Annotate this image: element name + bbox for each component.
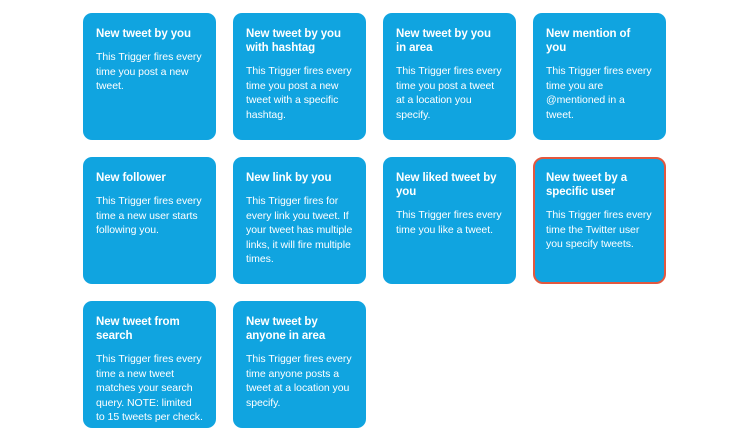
trigger-card-title: New tweet by a specific user	[546, 171, 653, 199]
trigger-card-new-liked-tweet-by-you[interactable]: New liked tweet by you This Trigger fire…	[383, 157, 516, 284]
trigger-card-description: This Trigger fires every time you post a…	[246, 64, 353, 122]
trigger-card-new-tweet-by-you-in-area[interactable]: New tweet by you in area This Trigger fi…	[383, 13, 516, 140]
trigger-card-new-follower[interactable]: New follower This Trigger fires every ti…	[83, 157, 216, 284]
trigger-card-title: New mention of you	[546, 27, 653, 55]
trigger-card-title: New tweet by you with hashtag	[246, 27, 353, 55]
trigger-card-new-tweet-by-you-with-hashtag[interactable]: New tweet by you with hashtag This Trigg…	[233, 13, 366, 140]
trigger-card-title: New liked tweet by you	[396, 171, 503, 199]
trigger-card-description: This Trigger fires every time you are @m…	[546, 64, 653, 122]
trigger-card-grid: New tweet by you This Trigger fires ever…	[83, 13, 666, 428]
trigger-card-description: This Trigger fires for every link you tw…	[246, 194, 353, 267]
trigger-card-description: This Trigger fires every time you like a…	[396, 208, 503, 237]
trigger-card-description: This Trigger fires every time anyone pos…	[246, 352, 353, 410]
trigger-card-title: New tweet by you in area	[396, 27, 503, 55]
trigger-card-title: New tweet by anyone in area	[246, 315, 353, 343]
trigger-card-new-tweet-by-a-specific-user[interactable]: New tweet by a specific user This Trigge…	[533, 157, 666, 284]
trigger-card-title: New tweet by you	[96, 27, 203, 41]
trigger-card-description: This Trigger fires every time a new user…	[96, 194, 203, 238]
trigger-card-description: This Trigger fires every time you post a…	[396, 64, 503, 122]
trigger-card-new-mention-of-you[interactable]: New mention of you This Trigger fires ev…	[533, 13, 666, 140]
trigger-card-title: New follower	[96, 171, 203, 185]
trigger-card-description: This Trigger fires every time you post a…	[96, 50, 203, 94]
trigger-card-description: This Trigger fires every time the Twitte…	[546, 208, 653, 252]
trigger-card-description: This Trigger fires every time a new twee…	[96, 352, 203, 425]
trigger-card-new-link-by-you[interactable]: New link by you This Trigger fires for e…	[233, 157, 366, 284]
trigger-card-new-tweet-by-anyone-in-area[interactable]: New tweet by anyone in area This Trigger…	[233, 301, 366, 428]
trigger-card-title: New link by you	[246, 171, 353, 185]
trigger-card-new-tweet-from-search[interactable]: New tweet from search This Trigger fires…	[83, 301, 216, 428]
trigger-card-new-tweet-by-you[interactable]: New tweet by you This Trigger fires ever…	[83, 13, 216, 140]
trigger-card-title: New tweet from search	[96, 315, 203, 343]
